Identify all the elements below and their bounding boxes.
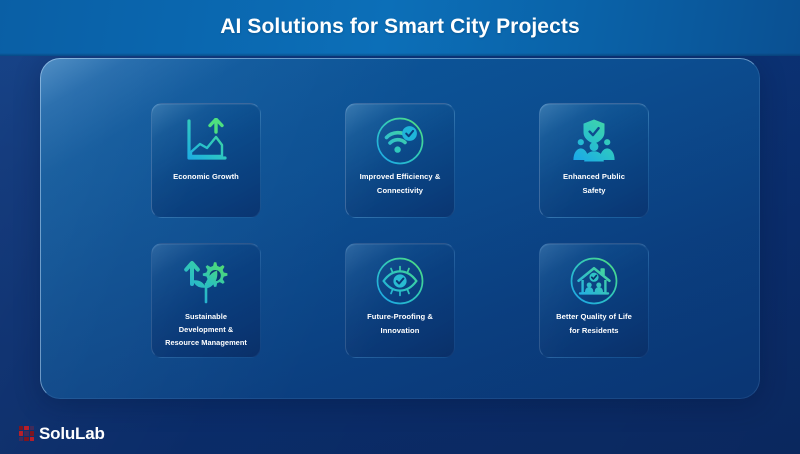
card-improved-efficiency-connectivity[interactable]: Improved Efficiency & Connectivity [345,103,455,218]
card-label-line: Development & [154,323,258,336]
card-label: Sustainable Development & Resource Manag… [152,310,260,349]
solulab-pixel-grid-logo [19,426,34,441]
card-economic-growth[interactable]: Economic Growth [151,103,261,218]
eye-check-circle-icon [375,252,425,310]
slide-canvas: AI Solutions for Smart City Projects [0,0,800,454]
card-label-line: Innovation [348,324,452,338]
card-label-line: Connectivity [348,184,452,198]
card-label-line: Sustainable [154,310,258,323]
leaf-gear-arrow-icon [181,252,231,310]
card-label: Enhanced Public Safety [540,170,648,197]
card-label-line: Resource Management [154,336,258,349]
growth-chart-arrow-icon [182,112,230,170]
card-label-line: Improved Efficiency & [348,170,452,184]
brand-logo[interactable]: SoluLab [19,425,105,442]
brand-name: SoluLab [39,425,105,442]
card-label-line: Economic Growth [154,170,258,184]
card-sustainable-development-resource-management[interactable]: Sustainable Development & Resource Manag… [151,243,261,358]
card-label: Better Quality of Life for Residents [540,310,648,337]
wifi-check-circle-icon [375,112,425,170]
card-label-line: Safety [542,184,646,198]
card-label: Improved Efficiency & Connectivity [346,170,454,197]
card-label-line: Better Quality of Life [542,310,646,324]
page-title: AI Solutions for Smart City Projects [0,13,800,41]
card-label-line: Enhanced Public [542,170,646,184]
benefit-card-grid: Economic Growth [40,58,760,399]
card-enhanced-public-safety[interactable]: Enhanced Public Safety [539,103,649,218]
content-panel: Economic Growth [40,58,760,399]
card-label: Future-Proofing & Innovation [346,310,454,337]
card-label-line: for Residents [542,324,646,338]
card-better-quality-of-life-for-residents[interactable]: Better Quality of Life for Residents [539,243,649,358]
card-label: Economic Growth [152,170,260,184]
card-label-line: Future-Proofing & [348,310,452,324]
shield-people-icon [570,112,618,170]
card-future-proofing-innovation[interactable]: Future-Proofing & Innovation [345,243,455,358]
house-family-check-circle-icon [569,252,619,310]
